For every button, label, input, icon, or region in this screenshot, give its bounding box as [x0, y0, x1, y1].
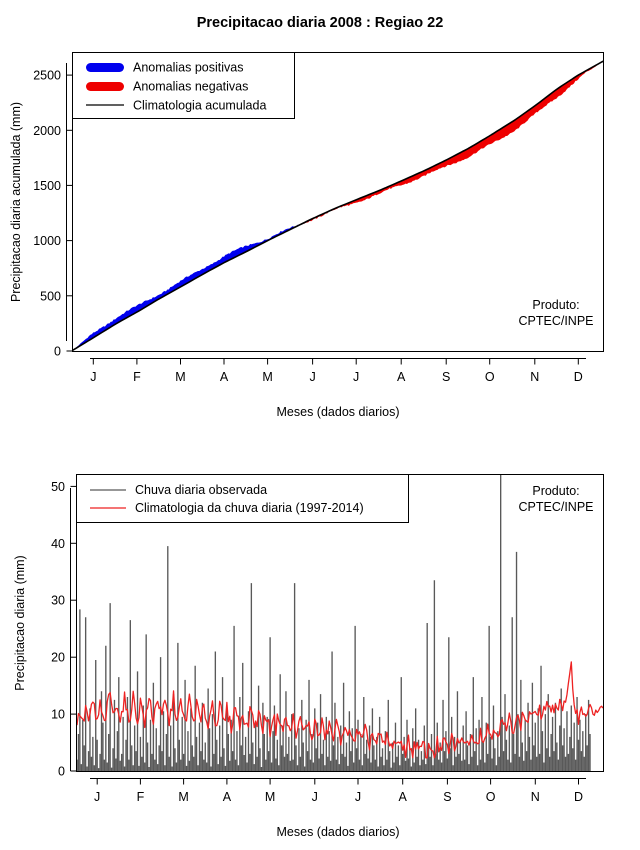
top-y-axis: 05001000150020002500	[33, 63, 72, 359]
top-ytick-3: 1500	[33, 179, 61, 193]
accumulated-precipitation-panel: 05001000150020002500 JFMAMJJASOND Precip…	[9, 53, 604, 420]
figure-root: Precipitacao diaria 2008 : Regiao 22 050…	[0, 0, 640, 850]
legend-label-1: Anomalias negativas	[133, 80, 248, 94]
top-xtick-S-8: S	[442, 370, 450, 384]
bottom-xtick-N-10: N	[531, 790, 540, 804]
bottom-x-axis: JFMAMJJASOND	[90, 779, 586, 805]
bottom-xtick-A-3: A	[223, 790, 232, 804]
legend-swatch-0	[86, 63, 124, 72]
legend-label-1: Climatologia da chuva diaria (1997-2014)	[135, 501, 364, 515]
top-xtick-J-6: J	[353, 370, 359, 384]
top-ytick-5: 2500	[33, 69, 61, 83]
top-xtick-N-10: N	[530, 370, 539, 384]
top-xtick-M-4: M	[262, 370, 272, 384]
top-x-axis-label: Meses (dados diarios)	[277, 405, 400, 419]
top-xtick-A-7: A	[397, 370, 406, 384]
legend-swatch-1	[86, 82, 124, 91]
bottom-legend-box	[77, 475, 409, 523]
bottom-legend: Chuva diaria observadaClimatologia da ch…	[77, 475, 409, 523]
top-ytick-4: 2000	[33, 124, 61, 138]
legend-label-0: Anomalias positivas	[133, 61, 243, 75]
daily-precipitation-panel: 01020304050 JFMAMJJASOND Precipitacao di…	[13, 458, 604, 839]
bottom-xtick-J-6: J	[355, 790, 361, 804]
bottom-ytick-4: 40	[51, 537, 65, 551]
top-xtick-D-11: D	[574, 370, 583, 384]
producer-note-line1: Produto:	[532, 298, 579, 312]
top-xtick-O-9: O	[485, 370, 495, 384]
bottom-ytick-3: 30	[51, 594, 65, 608]
bottom-xtick-A-7: A	[399, 790, 408, 804]
bottom-producer-note: Produto: CPTEC/INPE	[518, 484, 593, 514]
bottom-ytick-5: 50	[51, 480, 65, 494]
bottom-xtick-J-5: J	[312, 790, 318, 804]
top-xtick-M-2: M	[175, 370, 185, 384]
bottom-xtick-M-4: M	[265, 790, 275, 804]
bottom-ytick-1: 10	[51, 708, 65, 722]
top-xtick-J-5: J	[309, 370, 315, 384]
bottom-xtick-J-0: J	[94, 790, 100, 804]
top-producer-note: Produto: CPTEC/INPE	[518, 298, 593, 328]
bottom-x-axis-label: Meses (dados diarios)	[277, 825, 400, 839]
top-ytick-2: 1000	[33, 234, 61, 248]
bottom-ytick-2: 20	[51, 651, 65, 665]
bottom-xtick-O-9: O	[486, 790, 496, 804]
top-y-axis-label: Precipitacao diaria acumulada (mm)	[9, 102, 23, 302]
bottom-xtick-D-11: D	[574, 790, 583, 804]
page-title: Precipitacao diaria 2008 : Regiao 22	[197, 15, 444, 31]
legend-label-0: Chuva diaria observada	[135, 483, 267, 497]
top-ytick-0: 0	[54, 345, 61, 359]
precipitation-figure: Precipitacao diaria 2008 : Regiao 22 050…	[0, 0, 640, 850]
top-x-axis: JFMAMJJASOND	[90, 359, 586, 385]
top-xtick-F-1: F	[133, 370, 141, 384]
legend-label-2: Climatologia acumulada	[133, 99, 266, 113]
top-legend: Anomalias positivasAnomalias negativasCl…	[73, 53, 295, 119]
producer-note-line2: CPTEC/INPE	[518, 500, 593, 514]
bottom-xtick-M-2: M	[178, 790, 188, 804]
bottom-y-axis: 01020304050	[51, 480, 76, 779]
top-ytick-1: 500	[40, 289, 61, 303]
bottom-xtick-S-8: S	[443, 790, 451, 804]
producer-note-line1: Produto:	[532, 484, 579, 498]
bottom-ytick-0: 0	[58, 765, 65, 779]
negative-anomaly-band	[331, 62, 601, 211]
bottom-y-axis-label: Precipitacao diaria (mm)	[13, 555, 27, 690]
top-xtick-J-0: J	[90, 370, 96, 384]
top-xtick-A-3: A	[220, 370, 229, 384]
bottom-xtick-F-1: F	[137, 790, 145, 804]
producer-note-line2: CPTEC/INPE	[518, 314, 593, 328]
